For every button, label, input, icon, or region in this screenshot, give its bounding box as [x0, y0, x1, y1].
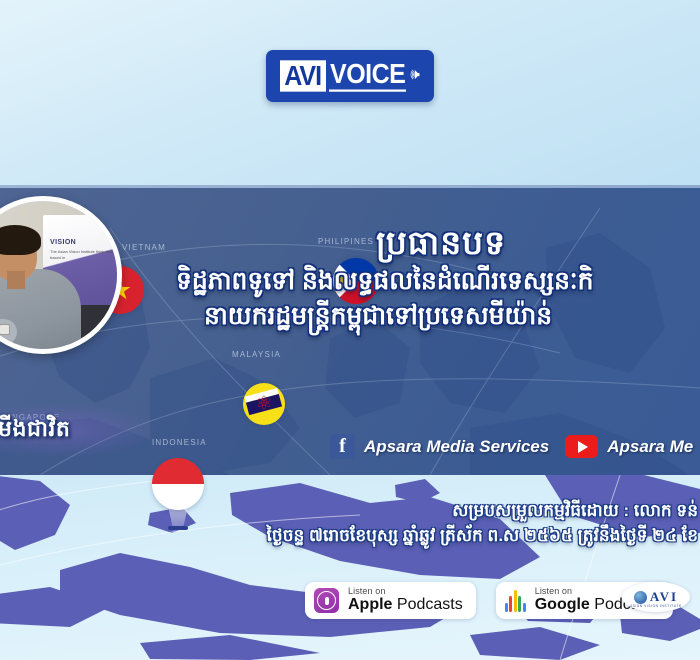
- map-label-vietnam: VIETNAM: [122, 243, 166, 252]
- avi-voice-thumbnail: AVI VOICE 🕪: [0, 0, 700, 660]
- poster-body-text: The Asian Vision Institute think tank ba…: [50, 249, 115, 262]
- facebook-label: Apsara Media Services: [364, 437, 549, 457]
- avi-voice-logo[interactable]: AVI VOICE 🕪: [266, 50, 434, 102]
- brunei-emblem: ⚛: [255, 395, 272, 414]
- facebook-icon: f: [330, 434, 355, 459]
- sound-wave-icon: 🕪: [410, 66, 419, 83]
- social-links-row: f Apsara Media Services Apsara Me: [330, 434, 693, 459]
- apple-brand: Apple Podcasts: [348, 597, 463, 614]
- apple-badge-text: Listen on Apple Podcasts: [348, 587, 463, 614]
- avi-institute-logo[interactable]: AVI ASIAN VISION INSTITUTE: [622, 582, 690, 612]
- credit-line-date: ថ្ងៃចន្ទ ៧រោចខែបុស្ស ឆ្នាំឆ្លូវ ត្រីស័ក …: [267, 525, 698, 550]
- logo-voice-text: VOICE: [329, 60, 406, 93]
- apple-podcasts-badge[interactable]: Listen on Apple Podcasts: [305, 582, 476, 619]
- indonesia-flag-white: [152, 484, 204, 510]
- headline-line-3: នាយករដ្ឋមន្ត្រីកម្ពុជាទៅប្រទេសមីយ៉ាន់: [204, 300, 700, 334]
- apple-brand-light: Podcasts: [392, 596, 462, 613]
- facebook-link[interactable]: f Apsara Media Services: [330, 434, 549, 459]
- pin-flag-circle: [152, 458, 204, 510]
- apple-podcasts-icon: [314, 588, 339, 613]
- speaker-avatar: VISION The Asian Vision Institute think …: [0, 196, 122, 354]
- avatar-hair: [0, 225, 41, 255]
- speaker-name: ង មេីងជាវិត: [0, 415, 130, 447]
- page-header: AVI VOICE 🕪: [0, 0, 700, 188]
- podcast-badges-row: Listen on Apple Podcasts Listen on Googl…: [305, 582, 673, 619]
- avatar-watch: [0, 324, 10, 335]
- poster-vision-heading: VISION: [50, 239, 76, 246]
- headline-topic: ប្រធានបទ: [376, 222, 700, 263]
- map-label-indonesia: INDONESIA: [152, 438, 207, 447]
- youtube-icon: [565, 435, 598, 458]
- indonesia-flag-red: [152, 458, 204, 484]
- pin-base-dot: [168, 526, 188, 530]
- apple-listen-on: Listen on: [348, 587, 463, 596]
- youtube-link[interactable]: Apsara Me: [565, 435, 693, 458]
- youtube-label: Apsara Me: [607, 437, 693, 457]
- map-label-malaysia: MALAYSIA: [232, 350, 281, 359]
- globe-icon: [634, 591, 647, 604]
- apple-brand-bold: Apple: [348, 596, 392, 613]
- credit-line-host: សម្របសម្រួលកម្មវិធីដោយ : លោក ទន់: [452, 500, 698, 525]
- avi-logo-text: AVI: [650, 589, 678, 605]
- google-podcasts-icon: [505, 590, 526, 612]
- avi-logo-subtitle: ASIAN VISION INSTITUTE: [622, 604, 690, 608]
- brunei-flag-icon: ⚛: [243, 383, 285, 425]
- logo-avi-text: AVI: [280, 60, 326, 92]
- indonesia-flag-map-pin: [152, 458, 204, 536]
- avatar-neck: [7, 271, 25, 289]
- headline-block: ប្រធានបទ ទិដ្ឋភាពទូទៅ និងលទ្ធផលនៃដំណើរទេ…: [176, 222, 700, 334]
- headline-line-2: ទិដ្ឋភាពទូទៅ និងលទ្ធផលនៃដំណើរទេស្សនៈកិ: [176, 265, 700, 299]
- logo-inner: AVI VOICE 🕪: [280, 61, 420, 90]
- google-brand-bold: Google: [535, 596, 590, 613]
